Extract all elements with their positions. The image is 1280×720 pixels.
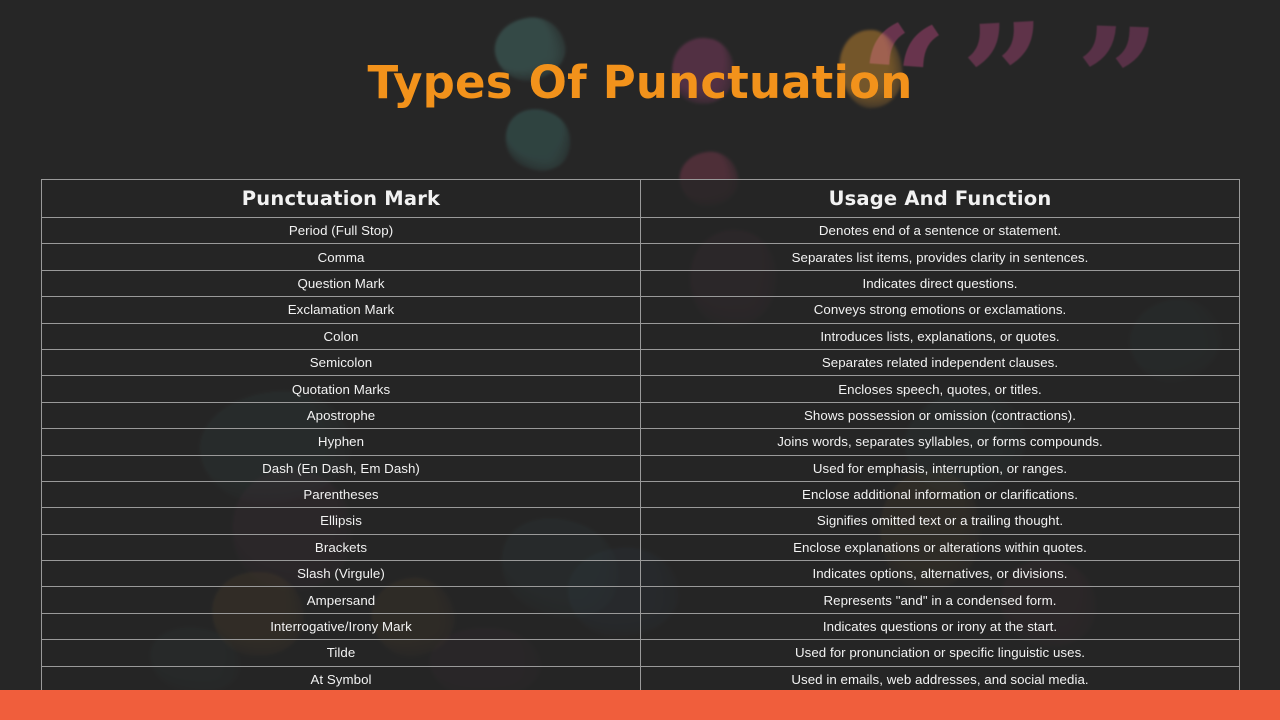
table-row: HyphenJoins words, separates syllables, … — [42, 429, 1240, 455]
cell-usage-and-function: Used in emails, web addresses, and socia… — [641, 666, 1240, 692]
page-title: Types Of Punctuation — [368, 56, 913, 109]
cell-punctuation-mark: Question Mark — [42, 270, 641, 296]
cell-punctuation-mark: Period (Full Stop) — [42, 218, 641, 244]
title-region: Types Of Punctuation — [0, 0, 1280, 165]
cell-usage-and-function: Represents "and" in a condensed form. — [641, 587, 1240, 613]
cell-punctuation-mark: Interrogative/Irony Mark — [42, 613, 641, 639]
cell-usage-and-function: Joins words, separates syllables, or for… — [641, 429, 1240, 455]
cell-punctuation-mark: Tilde — [42, 640, 641, 666]
cell-usage-and-function: Signifies omitted text or a trailing tho… — [641, 508, 1240, 534]
table-row: BracketsEnclose explanations or alterati… — [42, 534, 1240, 560]
cell-usage-and-function: Used for emphasis, interruption, or rang… — [641, 455, 1240, 481]
table-row: Dash (En Dash, Em Dash)Used for emphasis… — [42, 455, 1240, 481]
cell-usage-and-function: Denotes end of a sentence or statement. — [641, 218, 1240, 244]
punctuation-table: Punctuation Mark Usage And Function Peri… — [41, 179, 1240, 693]
cell-usage-and-function: Conveys strong emotions or exclamations. — [641, 297, 1240, 323]
table-row: Exclamation MarkConveys strong emotions … — [42, 297, 1240, 323]
punctuation-table-region: Punctuation Mark Usage And Function Peri… — [41, 179, 1240, 673]
table-row: ColonIntroduces lists, explanations, or … — [42, 323, 1240, 349]
cell-punctuation-mark: Comma — [42, 244, 641, 270]
bottom-accent-bar — [0, 690, 1280, 720]
table-row: At SymbolUsed in emails, web addresses, … — [42, 666, 1240, 692]
table-row: Quotation MarksEncloses speech, quotes, … — [42, 376, 1240, 402]
table-row: SemicolonSeparates related independent c… — [42, 349, 1240, 375]
cell-usage-and-function: Separates list items, provides clarity i… — [641, 244, 1240, 270]
cell-usage-and-function: Separates related independent clauses. — [641, 349, 1240, 375]
table-row: Question MarkIndicates direct questions. — [42, 270, 1240, 296]
table-row: Slash (Virgule)Indicates options, altern… — [42, 561, 1240, 587]
table-row: AmpersandRepresents "and" in a condensed… — [42, 587, 1240, 613]
table-row: EllipsisSignifies omitted text or a trai… — [42, 508, 1240, 534]
cell-usage-and-function: Indicates direct questions. — [641, 270, 1240, 296]
table-row: ParenthesesEnclose additional informatio… — [42, 481, 1240, 507]
cell-usage-and-function: Indicates options, alternatives, or divi… — [641, 561, 1240, 587]
cell-usage-and-function: Enclose explanations or alterations with… — [641, 534, 1240, 560]
table-row: Interrogative/Irony MarkIndicates questi… — [42, 613, 1240, 639]
cell-punctuation-mark: Dash (En Dash, Em Dash) — [42, 455, 641, 481]
table-header-row: Punctuation Mark Usage And Function — [42, 180, 1240, 218]
table-row: CommaSeparates list items, provides clar… — [42, 244, 1240, 270]
cell-usage-and-function: Encloses speech, quotes, or titles. — [641, 376, 1240, 402]
table-body: Period (Full Stop)Denotes end of a sente… — [42, 218, 1240, 693]
cell-usage-and-function: Introduces lists, explanations, or quote… — [641, 323, 1240, 349]
cell-usage-and-function: Indicates questions or irony at the star… — [641, 613, 1240, 639]
cell-punctuation-mark: Exclamation Mark — [42, 297, 641, 323]
cell-punctuation-mark: Ellipsis — [42, 508, 641, 534]
cell-usage-and-function: Used for pronunciation or specific lingu… — [641, 640, 1240, 666]
cell-punctuation-mark: Hyphen — [42, 429, 641, 455]
table-header: Punctuation Mark Usage And Function — [42, 180, 1240, 218]
cell-usage-and-function: Shows possession or omission (contractio… — [641, 402, 1240, 428]
table-row: TildeUsed for pronunciation or specific … — [42, 640, 1240, 666]
table-row: Period (Full Stop)Denotes end of a sente… — [42, 218, 1240, 244]
cell-punctuation-mark: At Symbol — [42, 666, 641, 692]
cell-punctuation-mark: Slash (Virgule) — [42, 561, 641, 587]
cell-punctuation-mark: Ampersand — [42, 587, 641, 613]
cell-punctuation-mark: Apostrophe — [42, 402, 641, 428]
cell-punctuation-mark: Semicolon — [42, 349, 641, 375]
cell-usage-and-function: Enclose additional information or clarif… — [641, 481, 1240, 507]
cell-punctuation-mark: Quotation Marks — [42, 376, 641, 402]
cell-punctuation-mark: Colon — [42, 323, 641, 349]
table-row: ApostropheShows possession or omission (… — [42, 402, 1240, 428]
cell-punctuation-mark: Brackets — [42, 534, 641, 560]
column-header-usage-and-function: Usage And Function — [641, 180, 1240, 218]
column-header-punctuation-mark: Punctuation Mark — [42, 180, 641, 218]
cell-punctuation-mark: Parentheses — [42, 481, 641, 507]
